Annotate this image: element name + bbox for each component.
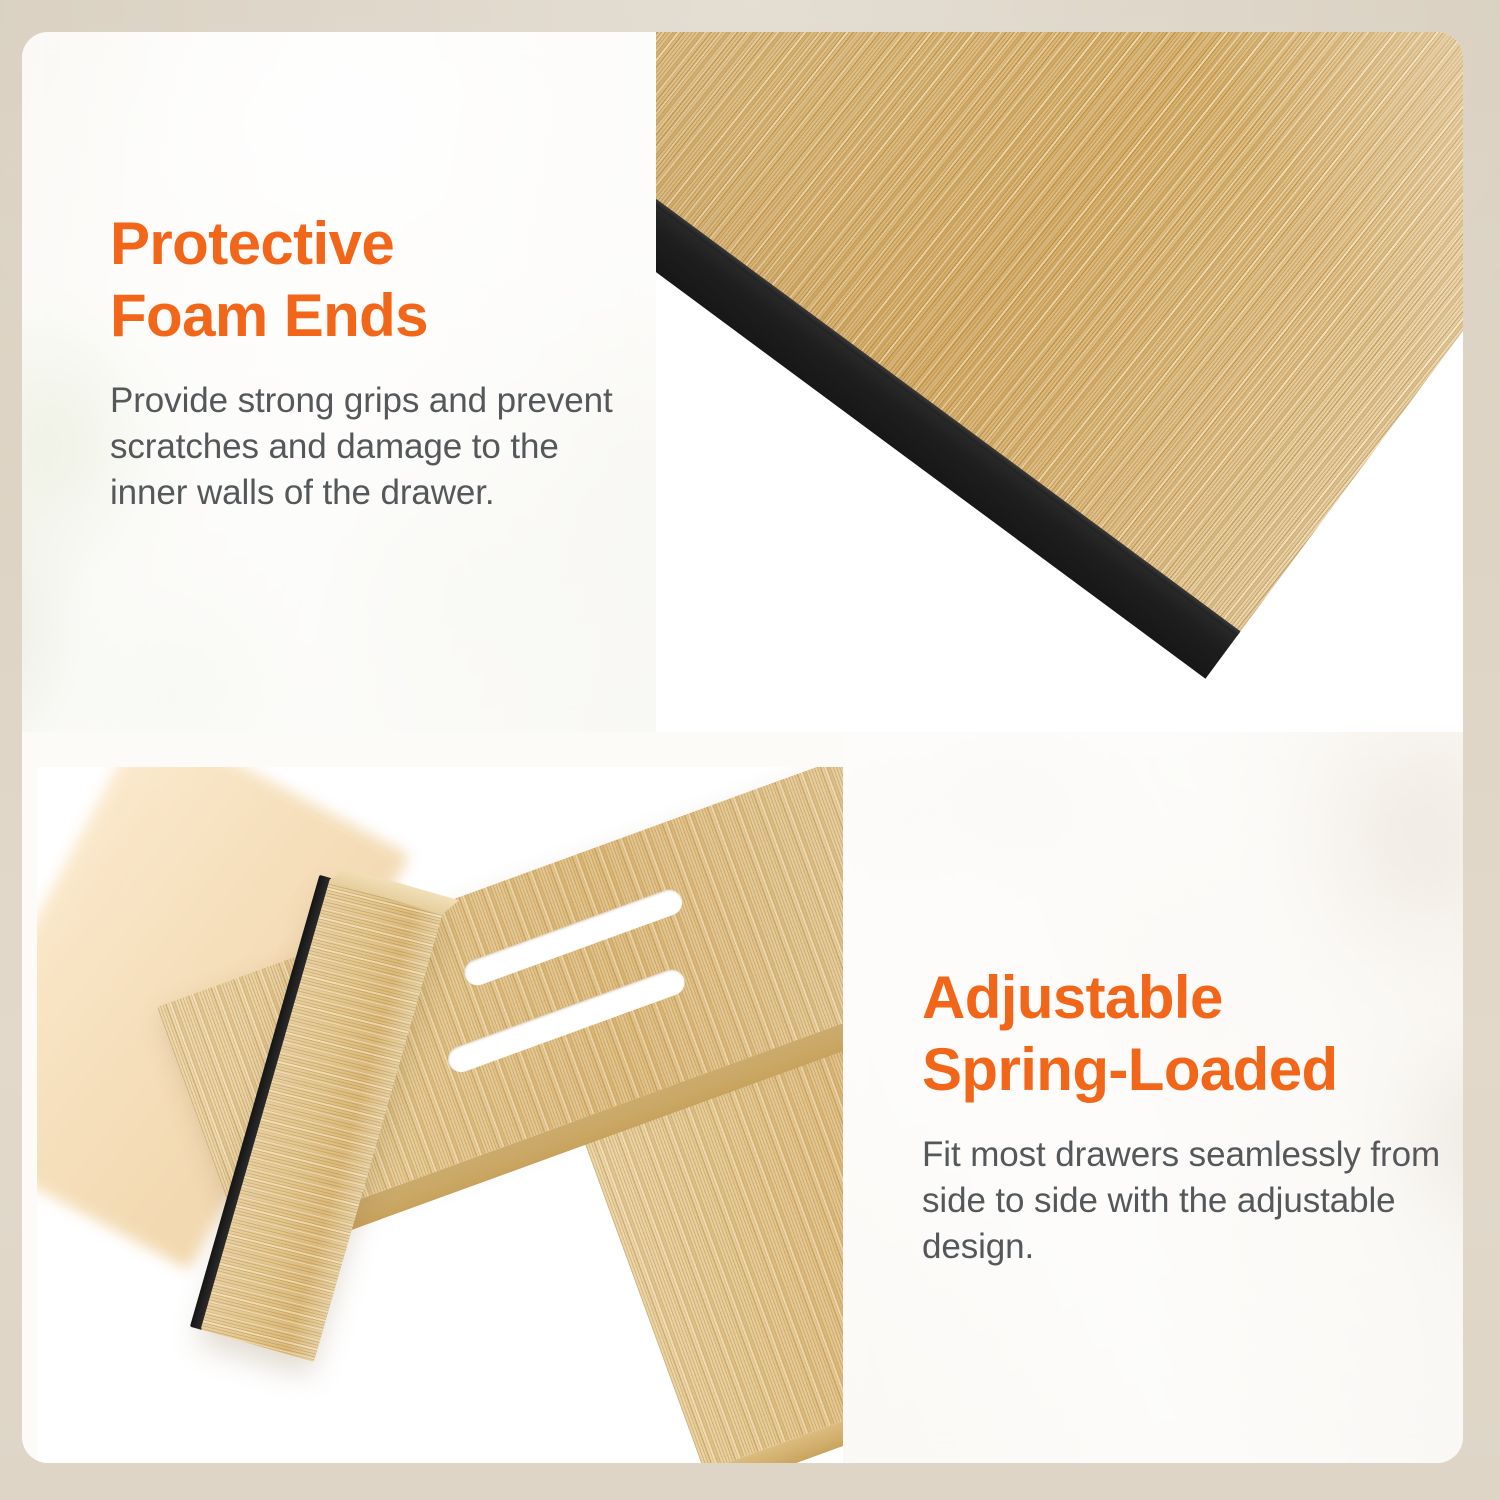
product-feature-infographic: Protective Foam Ends Provide strong grip… <box>0 0 1500 1500</box>
product-photo-foam-edge <box>656 32 1463 732</box>
feature-copy-protective-foam-ends: Protective Foam Ends Provide strong grip… <box>110 208 640 517</box>
feature-heading-1: Protective Foam Ends <box>110 208 640 352</box>
bamboo-slab <box>656 32 1463 634</box>
heading-line-2: Foam Ends <box>110 280 640 352</box>
feature-copy-adjustable-spring-loaded: Adjustable Spring-Loaded Fit most drawer… <box>922 962 1462 1271</box>
feature-body-1: Provide strong grips and prevent scratch… <box>110 378 640 517</box>
feature-body-2: Fit most drawers seamlessly from side to… <box>922 1132 1462 1271</box>
content-plate: Protective Foam Ends Provide strong grip… <box>22 32 1463 1463</box>
product-photo-adjustable-dividers <box>37 767 843 1463</box>
heading-line-1: Adjustable <box>922 962 1462 1034</box>
feature-heading-2: Adjustable Spring-Loaded <box>922 962 1462 1106</box>
heading-line-1: Protective <box>110 208 640 280</box>
adjustment-slot <box>461 886 686 989</box>
heading-line-2: Spring-Loaded <box>922 1034 1462 1106</box>
